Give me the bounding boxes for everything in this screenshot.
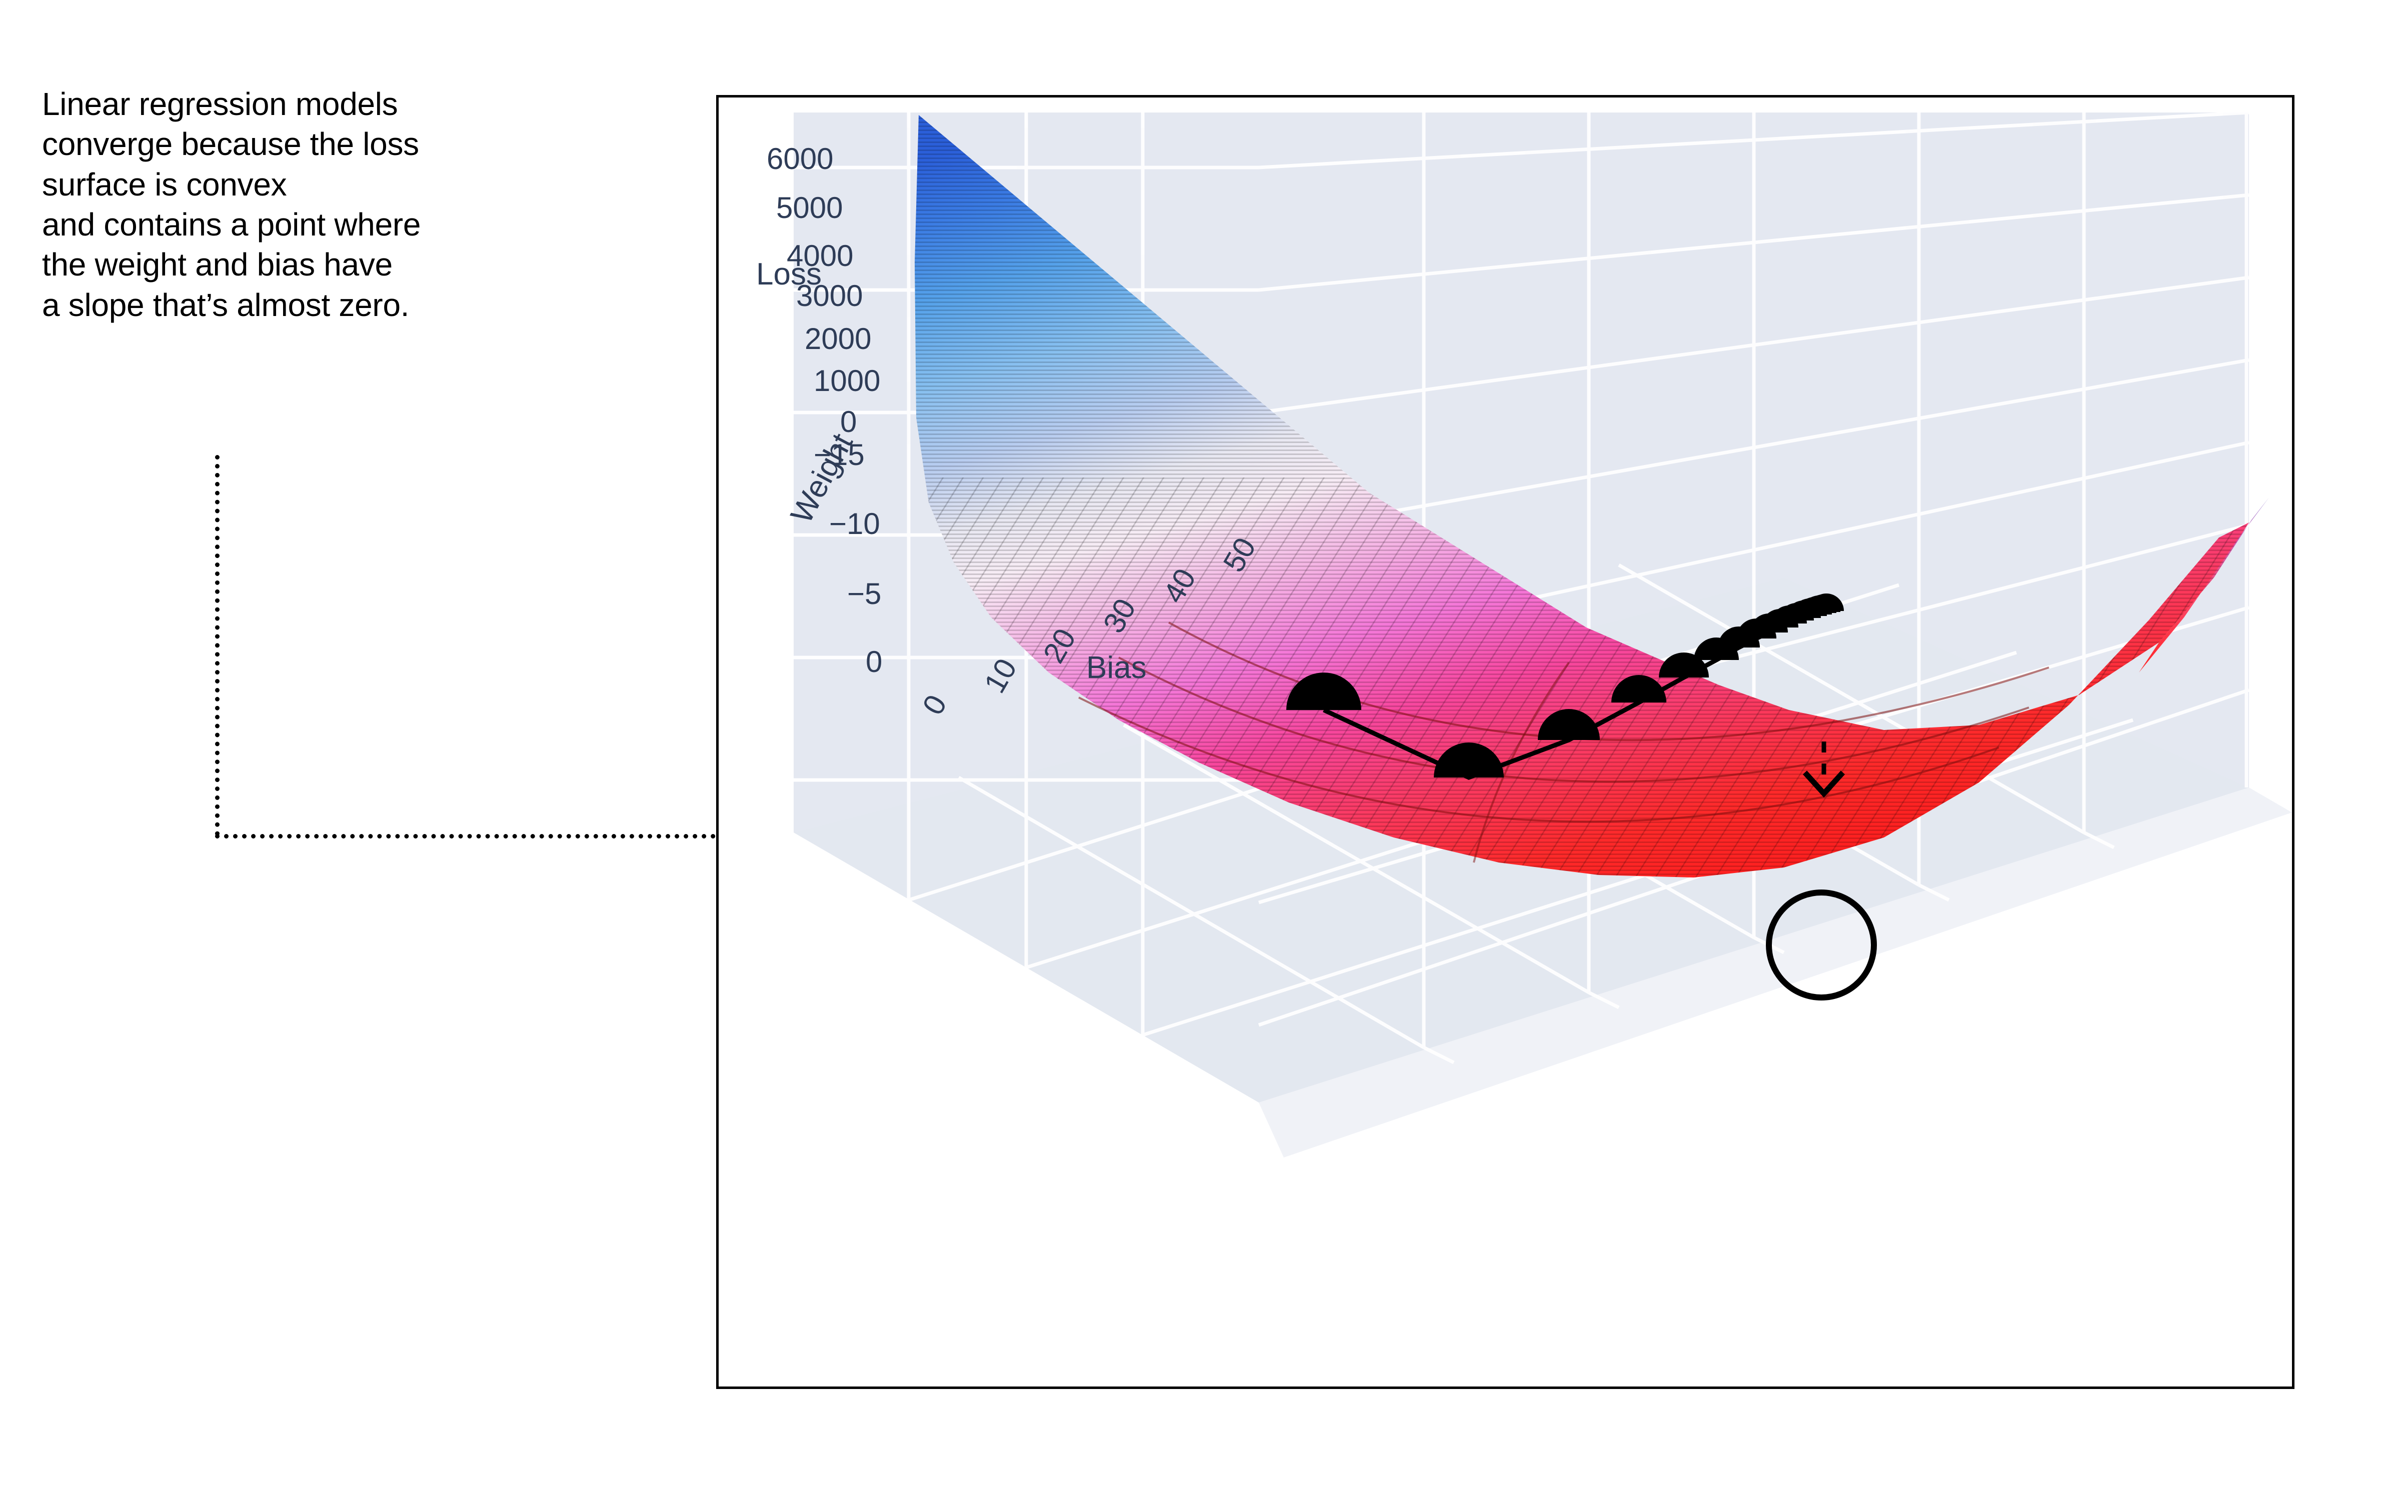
z-tick-1000: 1000 — [814, 363, 880, 398]
annotation-text: Linear regression models converge becaus… — [42, 84, 667, 325]
y-tick--5: −5 — [847, 576, 881, 611]
loss-surface-3d-plot — [719, 97, 2292, 1386]
x-axis-title: Bias — [1086, 650, 1147, 685]
z-tick-0: 0 — [840, 404, 857, 439]
z-tick-6000: 6000 — [767, 141, 833, 176]
y-tick--10: −10 — [829, 506, 880, 541]
chart-frame: 6000 5000 4000 3000 2000 1000 0 Loss −15… — [716, 95, 2294, 1389]
z-axis-title: Loss — [756, 256, 822, 292]
y-tick-0: 0 — [866, 644, 882, 679]
leader-line-vertical — [215, 455, 220, 836]
z-tick-5000: 5000 — [776, 190, 843, 225]
z-tick-2000: 2000 — [805, 321, 871, 356]
